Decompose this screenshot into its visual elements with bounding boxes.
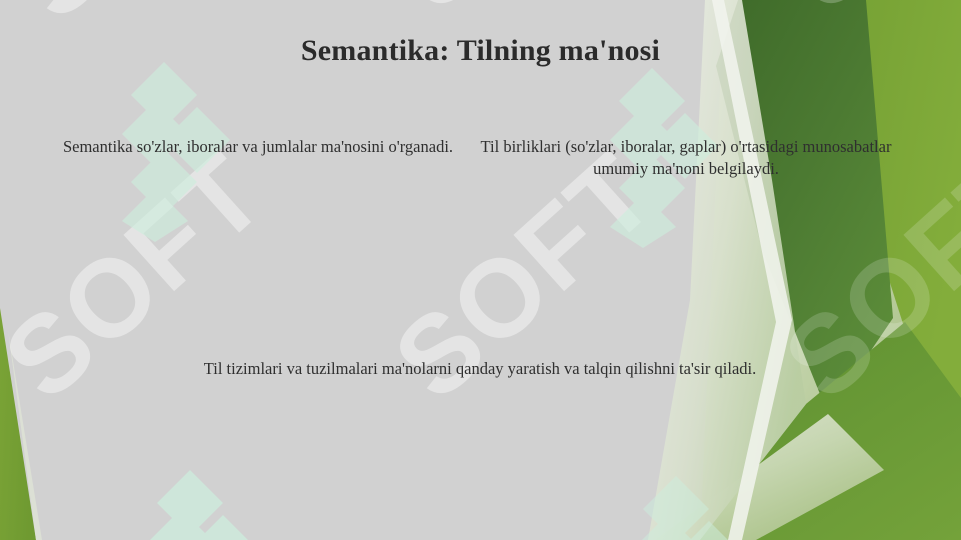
watermark-soft-text: SOFT (370, 0, 679, 34)
shape-lower-green-diagonal (700, 322, 961, 540)
watermark-soft-text: SOFT (0, 128, 289, 424)
shape-left-green-wedge (0, 308, 36, 540)
watermark-layer: SOFT SOFT SOFT SOFT SOFT SOFT (0, 0, 961, 540)
text-block-right: Til birliklari (so'zlar, iboralar, gapla… (470, 136, 902, 180)
shape-white-seam (712, 0, 792, 540)
shape-lower-pale-diagonal (655, 414, 884, 540)
watermark-soft-text: SOFT (760, 0, 961, 34)
background-graphics (0, 0, 961, 540)
shape-top-pale-wedge (700, 0, 905, 540)
presentation-slide: SOFT SOFT SOFT SOFT SOFT SOFT (0, 0, 961, 540)
k-logo-icon (616, 476, 766, 540)
shape-right-olive-band (700, 0, 961, 540)
shape-left-green-wedge-edge (8, 330, 42, 540)
text-block-bottom: Til tizimlari va tuzilmalari ma'nolarni … (178, 358, 782, 380)
k-logo-icon (130, 470, 280, 540)
shape-white-slab (648, 0, 806, 540)
text-block-left: Semantika so'zlar, iboralar va jumlalar … (58, 136, 458, 158)
slide-title: Semantika: Tilning ma'nosi (0, 34, 961, 68)
